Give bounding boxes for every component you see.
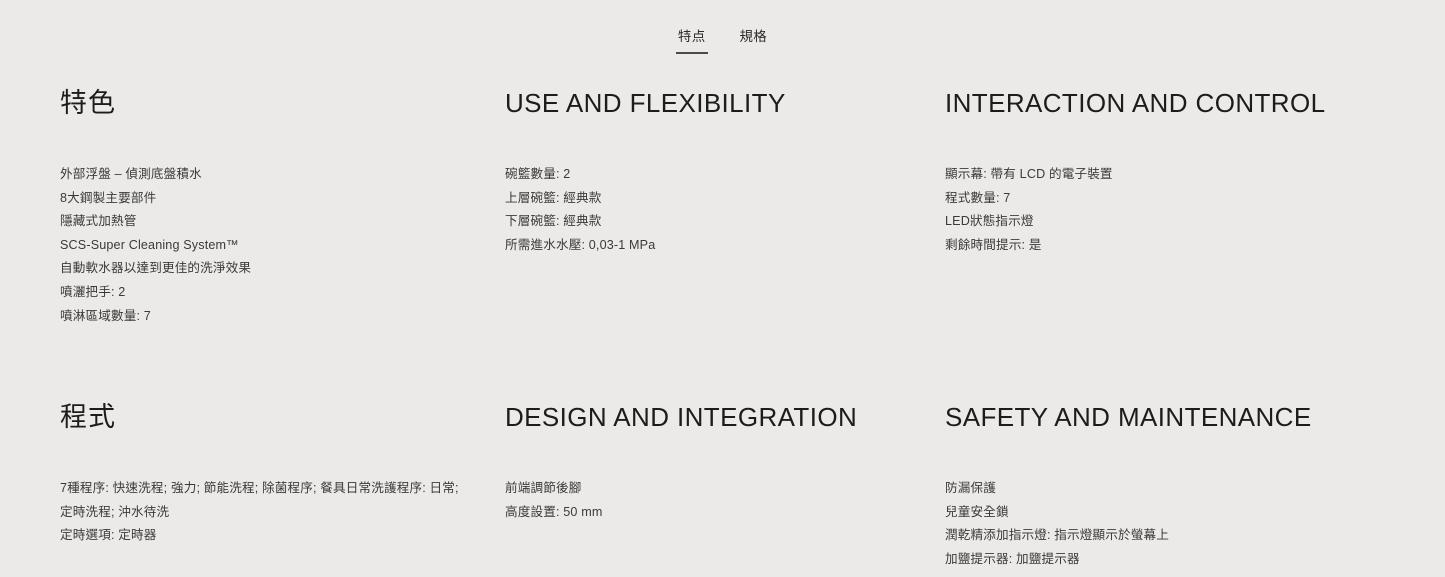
list-item: 下層碗籃: 經典款: [505, 210, 905, 234]
section-title-programmes: 程式: [60, 398, 465, 436]
list-item: 加鹽提示器: 加鹽提示器: [945, 548, 1345, 572]
section-safety-and-maintenance: SAFETY AND MAINTENANCE 防漏保護 兒童安全鎖 潤乾精添加指…: [945, 328, 1385, 571]
tab-specifications[interactable]: 規格: [738, 27, 770, 54]
list-item: 8大鋼製主要部件: [60, 187, 460, 211]
section-programmes: 程式 7種程序: 快速洗程; 強力; 節能洗程; 除菌程序; 餐具日常洗護程序:…: [60, 328, 505, 571]
section-title-design-and-integration: DESIGN AND INTEGRATION: [505, 398, 905, 436]
list-item: 自動軟水器以達到更佳的洗淨效果: [60, 257, 460, 281]
section-title-safety-and-maintenance: SAFETY AND MAINTENANCE: [945, 398, 1345, 436]
section-use-and-flexibility: USE AND FLEXIBILITY 碗籃數量: 2 上層碗籃: 經典款 下層…: [505, 84, 945, 328]
list-item: 噴灑把手: 2: [60, 281, 460, 305]
list-item: 7種程序: 快速洗程; 強力; 節能洗程; 除菌程序; 餐具日常洗護程序: 日常…: [60, 477, 460, 524]
section-list-design-and-integration: 前端調節後腳 高度設置: 50 mm: [505, 477, 905, 524]
list-item: LED狀態指示燈: [945, 210, 1345, 234]
list-item: 兒童安全鎖: [945, 501, 1345, 525]
list-item: 定時選項: 定時器: [60, 524, 460, 548]
list-item: SCS-Super Cleaning System™: [60, 234, 460, 258]
section-title-features: 特色: [60, 84, 465, 122]
section-list-use-and-flexibility: 碗籃數量: 2 上層碗籃: 經典款 下層碗籃: 經典款 所需進水水壓: 0,03…: [505, 163, 905, 257]
section-list-features: 外部浮盤 – 偵測底盤積水 8大鋼製主要部件 隱藏式加熱管 SCS-Super …: [60, 163, 465, 328]
list-item: 上層碗籃: 經典款: [505, 187, 905, 211]
section-list-safety-and-maintenance: 防漏保護 兒童安全鎖 潤乾精添加指示燈: 指示燈顯示於螢幕上 加鹽提示器: 加鹽…: [945, 477, 1345, 571]
list-item: 外部浮盤 – 偵測底盤積水: [60, 163, 460, 187]
list-item: 碗籃數量: 2: [505, 163, 905, 187]
section-list-programmes: 7種程序: 快速洗程; 強力; 節能洗程; 除菌程序; 餐具日常洗護程序: 日常…: [60, 477, 465, 548]
section-design-and-integration: DESIGN AND INTEGRATION 前端調節後腳 高度設置: 50 m…: [505, 328, 945, 571]
list-item: 噴淋區域數量: 7: [60, 305, 460, 329]
list-item: 潤乾精添加指示燈: 指示燈顯示於螢幕上: [945, 524, 1345, 548]
section-interaction-and-control: INTERACTION AND CONTROL 顯示幕: 帶有 LCD 的電子裝…: [945, 84, 1385, 328]
list-item: 防漏保護: [945, 477, 1345, 501]
feature-sections-grid: 特色 外部浮盤 – 偵測底盤積水 8大鋼製主要部件 隱藏式加熱管 SCS-Sup…: [0, 62, 1445, 572]
list-item: 剩餘時間提示: 是: [945, 234, 1345, 258]
tab-features[interactable]: 特点: [676, 27, 708, 54]
section-title-interaction-and-control: INTERACTION AND CONTROL: [945, 84, 1345, 122]
tab-bar: 特点 規格: [0, 0, 1445, 62]
list-item: 顯示幕: 帶有 LCD 的電子裝置: [945, 163, 1345, 187]
section-list-interaction-and-control: 顯示幕: 帶有 LCD 的電子裝置 程式數量: 7 LED狀態指示燈 剩餘時間提…: [945, 163, 1345, 257]
list-item: 前端調節後腳: [505, 477, 905, 501]
list-item: 所需進水水壓: 0,03-1 MPa: [505, 234, 905, 258]
section-title-use-and-flexibility: USE AND FLEXIBILITY: [505, 84, 905, 122]
list-item: 高度設置: 50 mm: [505, 501, 905, 525]
list-item: 程式數量: 7: [945, 187, 1345, 211]
list-item: 隱藏式加熱管: [60, 210, 460, 234]
section-features: 特色 外部浮盤 – 偵測底盤積水 8大鋼製主要部件 隱藏式加熱管 SCS-Sup…: [60, 84, 505, 328]
